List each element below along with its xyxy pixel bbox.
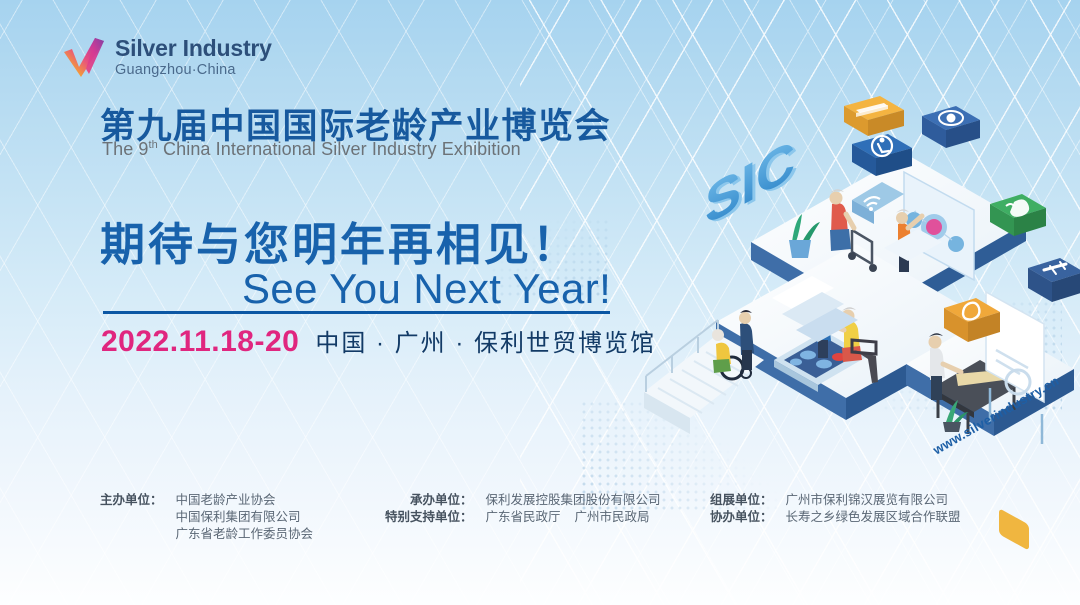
credits-values: 保利发展控股集团股份有限公司 广东省民政厅广州市民政局 bbox=[486, 492, 661, 543]
credits-label: 承办单位： bbox=[385, 492, 473, 509]
credits-value: 保利发展控股集团股份有限公司 bbox=[486, 492, 661, 509]
shelf-papers-decoration bbox=[772, 276, 858, 342]
title-en-ordinal: th bbox=[149, 139, 158, 151]
floating-icon-tile-helping-hand bbox=[990, 194, 1046, 236]
organizer-credits: 主办单位： 中国老龄产业协会 中国保利集团有限公司 广东省老龄工作委员协会 承办… bbox=[100, 492, 1000, 543]
credits-labels: 组展单位： 协办单位： bbox=[710, 492, 773, 543]
credits-column-hosts: 承办单位： 特别支持单位： 保利发展控股集团股份有限公司 广东省民政厅广州市民政… bbox=[385, 492, 710, 543]
credits-value: 中国保利集团有限公司 bbox=[176, 509, 314, 526]
nurse-figure bbox=[816, 300, 844, 358]
slogan-cn: 期待与您明年再相见！ bbox=[100, 208, 580, 273]
sic-3d-logo: SIC SIC bbox=[705, 127, 798, 241]
platform-main-left bbox=[716, 244, 986, 420]
smart-display-board-scene bbox=[896, 172, 974, 280]
website-url[interactable]: www.silverindustry.cn bbox=[931, 373, 1062, 457]
wheelchair-user-figure bbox=[712, 329, 751, 379]
exhibition-title-en: The 9th China International Silver Indus… bbox=[102, 139, 521, 160]
title-en-suffix: China International Silver Industry Exhi… bbox=[158, 139, 521, 159]
floor-mat-decoration bbox=[884, 229, 942, 261]
event-date-venue: 2022.11.18-20 中国 · 广州 · 保利世贸博览馆 bbox=[101, 323, 656, 359]
title-en-prefix: The 9 bbox=[102, 139, 149, 159]
brand-logo[interactable]: Silver Industry Guangzhou·China bbox=[62, 36, 272, 78]
event-venue: 中国 · 广州 · 保利世贸博览馆 bbox=[315, 323, 656, 358]
logo-wordmark: Silver Industry Guangzhou·China bbox=[115, 36, 272, 78]
event-date: 2022.11.18-20 bbox=[101, 325, 299, 359]
credits-column-organizers: 主办单位： 中国老龄产业协会 中国保利集团有限公司 广东省老龄工作委员协会 bbox=[100, 492, 385, 543]
credits-values: 中国老龄产业协会 中国保利集团有限公司 广东省老龄工作委员协会 bbox=[176, 492, 314, 543]
logo-title: Silver Industry bbox=[115, 37, 272, 60]
credits-label: 协办单位： bbox=[710, 509, 773, 526]
health-checkup-scene bbox=[774, 331, 868, 392]
credits-labels: 承办单位： 特别支持单位： bbox=[385, 492, 473, 543]
credits-label: 组展单位： bbox=[710, 492, 773, 509]
wheelchair-ramp-scene bbox=[644, 320, 764, 434]
floating-icon-tile-eye-care bbox=[922, 106, 980, 148]
credits-label: 特别支持单位： bbox=[385, 509, 473, 526]
credits-values: 广州市保利锦汉展览有限公司 长寿之乡绿色发展区域合作联盟 bbox=[786, 492, 961, 543]
credits-value: 长寿之乡绿色发展区域合作联盟 bbox=[786, 509, 961, 526]
wifi-monitor-scene bbox=[852, 182, 904, 224]
credits-column-coorganizers: 组展单位： 协办单位： 广州市保利锦汉展览有限公司 长寿之乡绿色发展区域合作联盟 bbox=[710, 492, 1000, 543]
svg-text:SIC: SIC bbox=[705, 128, 795, 237]
credits-label: 主办单位： bbox=[100, 492, 163, 509]
silver-industry-checkmark-logo-icon bbox=[62, 36, 106, 78]
caregiver-figure bbox=[739, 310, 754, 370]
plant-pot-decoration bbox=[789, 214, 820, 258]
walker-assist-scene bbox=[830, 189, 878, 272]
seated-elder-figure bbox=[842, 307, 879, 383]
floating-icon-tile-syringe bbox=[1028, 258, 1080, 302]
credits-value-pair: 广东省民政厅广州市民政局 bbox=[486, 509, 661, 526]
event-promo-banner: Silver Industry Guangzhou·China 第九届中国国际老… bbox=[0, 0, 1080, 605]
slogan-en: See You Next Year! bbox=[242, 265, 611, 313]
credits-labels: 主办单位： bbox=[100, 492, 163, 543]
credits-value: 广东省老龄工作委员协会 bbox=[176, 526, 314, 543]
logo-subtitle: Guangzhou·China bbox=[115, 63, 272, 78]
floating-icon-tile-medical-capsule bbox=[944, 298, 1000, 342]
floating-icon-tile-wheelchair-accessible bbox=[852, 134, 912, 176]
credits-value: 广州市民政局 bbox=[575, 510, 650, 524]
credits-value: 中国老龄产业协会 bbox=[176, 492, 314, 509]
divider-rule bbox=[103, 311, 610, 314]
credits-value: 广东省民政厅 bbox=[486, 510, 561, 524]
floating-icon-tile-hospital-bed bbox=[844, 96, 904, 136]
svg-text:SIC: SIC bbox=[708, 130, 798, 239]
credits-value: 广州市保利锦汉展览有限公司 bbox=[786, 492, 961, 509]
platform-back bbox=[751, 154, 1026, 330]
